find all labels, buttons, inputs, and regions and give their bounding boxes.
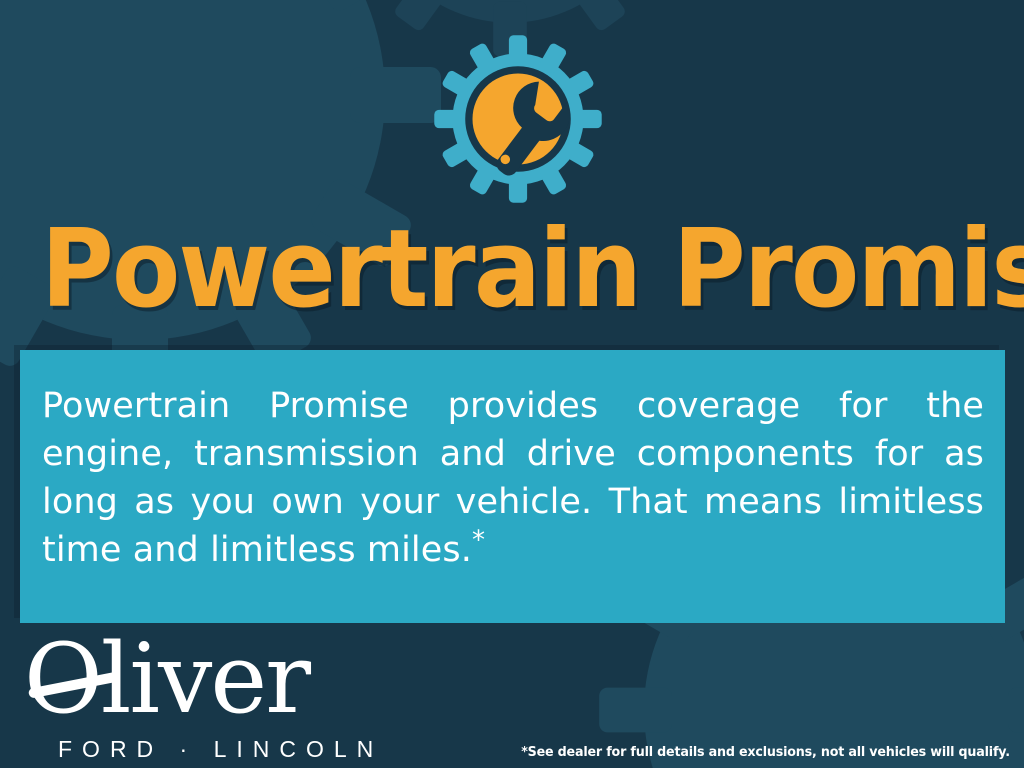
footnote-marker: * [472,525,485,555]
description-panel: Powertrain Promise provides coverage for… [20,350,1005,623]
description-paragraph: Powertrain Promise provides coverage for… [42,386,984,570]
dealer-logo: Oliver FORD · LINCOLN [24,636,324,762]
dealer-logo-subtitle: FORD · LINCOLN [58,736,383,763]
powertrain-promise-poster: Powertrain Promise Powertrain Promise pr… [0,0,1024,768]
oliver-wordmark-icon: Oliver [24,636,324,732]
page-title: Powertrain Promise [41,216,983,324]
gear-wrench-icon [424,28,612,210]
disclaimer-text: *See dealer for full details and exclusi… [521,744,1010,760]
description-text: Powertrain Promise provides coverage for… [42,382,984,574]
